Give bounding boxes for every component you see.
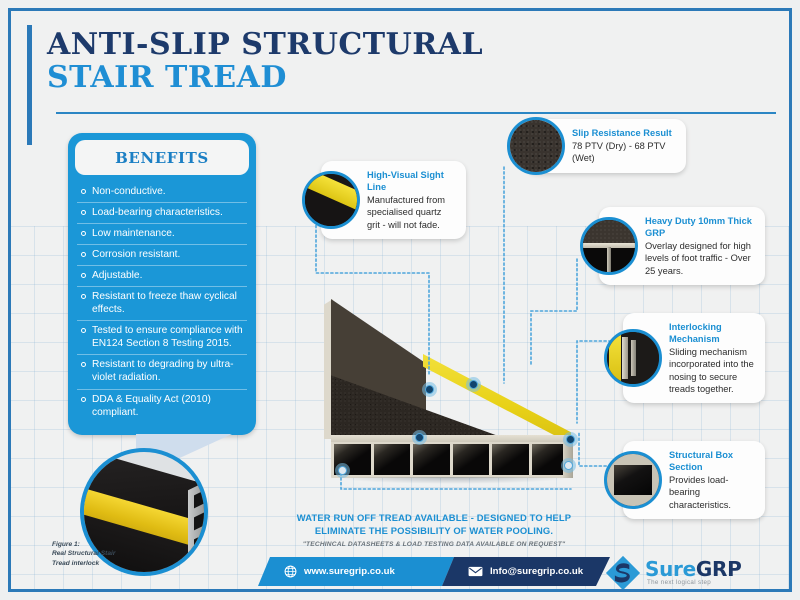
callout-interlocking-mechanism[interactable]: Interlocking Mechanism Sliding mechanism… xyxy=(623,313,765,403)
benefit-text: Non-conductive. xyxy=(92,185,166,198)
page-title: ANTI-SLIP STRUCTURAL STAIR TREAD xyxy=(47,29,607,95)
connector-node xyxy=(561,458,576,473)
benefit-text: DDA & Equality Act (2010) compliant. xyxy=(92,393,245,419)
connector-node xyxy=(422,382,437,397)
callout-body: 78 PTV (Dry) - 68 PTV (Wet) xyxy=(572,140,676,165)
callout-slip-resistance-result[interactable]: Slip Resistance Result 78 PTV (Dry) - 68… xyxy=(526,119,686,173)
list-item: Adjustable. xyxy=(77,266,247,287)
interlock-profile-icon xyxy=(604,329,662,387)
callout-title: Interlocking Mechanism xyxy=(669,321,755,345)
website-link[interactable]: www.suregrip.co.uk xyxy=(258,557,454,586)
bullet-icon xyxy=(81,273,86,278)
box-section-icon xyxy=(604,451,662,509)
benefit-text: Resistant to degrading by ultra-violet r… xyxy=(92,358,245,384)
footer-note-line-2: ELIMINATE THE POSSIBILITY OF WATER POOLI… xyxy=(269,524,599,537)
benefit-text: Low maintenance. xyxy=(92,227,175,240)
benefits-heading: BENEFITS xyxy=(75,140,249,175)
photo-tread-side xyxy=(188,474,208,576)
callout-structural-box-section[interactable]: Structural Box Section Provides load-bea… xyxy=(623,441,765,519)
box-cell xyxy=(453,444,490,475)
figure-caption: Figure 1: Real Structural Stair Tread in… xyxy=(52,540,148,568)
list-item: Tested to ensure compliance with EN124 S… xyxy=(77,321,247,355)
callout-heavy-duty-grp[interactable]: Heavy Duty 10mm Thick GRP Overlay design… xyxy=(599,207,765,285)
benefits-panel: BENEFITS Non-conductive. Load-bearing ch… xyxy=(68,133,256,435)
list-item: Resistant to freeze thaw cyclical effect… xyxy=(77,287,247,321)
list-item: DDA & Equality Act (2010) compliant. xyxy=(77,390,247,423)
quartz-grit-surface-icon xyxy=(507,117,565,175)
footer-note-line-1: WATER RUN OFF TREAD AVAILABLE - DESIGNED… xyxy=(269,511,599,524)
email-text: Info@suregrip.co.uk xyxy=(490,566,583,577)
contact-bar: www.suregrip.co.uk Info@suregrip.co.uk xyxy=(258,557,603,586)
logo-wordmark: SureGRP xyxy=(645,557,741,581)
callout-body: Overlay designed for high levels of foot… xyxy=(645,240,755,277)
benefit-text: Adjustable. xyxy=(92,269,142,282)
yellow-black-nosing-icon xyxy=(302,171,360,229)
callout-high-visual-sight-line[interactable]: High-Visual Sight Line Manufactured from… xyxy=(321,161,466,239)
list-item: Corrosion resistant. xyxy=(77,245,247,266)
bullet-icon xyxy=(81,362,86,367)
globe-icon xyxy=(284,565,297,578)
grp-cross-section-icon xyxy=(580,217,638,275)
box-cell xyxy=(413,444,450,475)
list-item: Low maintenance. xyxy=(77,224,247,245)
box-cell xyxy=(492,444,529,475)
callout-body: Sliding mechanism incorporated into the … xyxy=(669,346,755,395)
callout-title: Structural Box Section xyxy=(669,449,755,473)
tread-shadow xyxy=(333,477,573,484)
callout-title: High-Visual Sight Line xyxy=(367,169,456,193)
figure-photo: Figure 1: Real Structural Stair Tread in… xyxy=(66,436,226,586)
bullet-icon xyxy=(81,294,86,299)
tread-box-sections xyxy=(331,442,571,478)
title-line-2: STAIR TREAD xyxy=(47,61,607,95)
header-accent-bar xyxy=(27,25,32,145)
suregrp-logo-mark xyxy=(605,555,641,591)
logo-name-part2: GRP xyxy=(696,557,742,581)
connector-node xyxy=(412,430,427,445)
envelope-icon xyxy=(468,566,483,577)
callout-title: Heavy Duty 10mm Thick GRP xyxy=(645,215,755,239)
benefit-text: Load-bearing characteristics. xyxy=(92,206,223,219)
footer-note: WATER RUN OFF TREAD AVAILABLE - DESIGNED… xyxy=(269,511,599,548)
callout-title: Slip Resistance Result xyxy=(572,127,676,139)
suregrp-logo[interactable]: SureGRP The next logical step xyxy=(605,553,765,592)
footer-disclaimer: "TECHINCAL DATASHEETS & LOAD TESTING DAT… xyxy=(269,541,599,548)
email-link[interactable]: Info@suregrip.co.uk xyxy=(442,557,610,586)
bullet-icon xyxy=(81,231,86,236)
connector-node xyxy=(466,377,481,392)
benefit-text: Tested to ensure compliance with EN124 S… xyxy=(92,324,245,350)
box-cell xyxy=(374,444,411,475)
logo-name-part1: Sure xyxy=(645,557,696,581)
benefit-text: Resistant to freeze thaw cyclical effect… xyxy=(92,290,245,316)
bullet-icon xyxy=(81,328,86,333)
list-item: Non-conductive. xyxy=(77,182,247,203)
bullet-icon xyxy=(81,210,86,215)
benefit-text: Corrosion resistant. xyxy=(92,248,180,261)
website-text: www.suregrip.co.uk xyxy=(304,566,395,577)
title-divider xyxy=(56,112,776,114)
bullet-icon xyxy=(81,397,86,402)
benefits-list: Non-conductive. Load-bearing characteris… xyxy=(75,182,249,423)
title-line-1: ANTI-SLIP STRUCTURAL xyxy=(47,29,607,61)
logo-tagline: The next logical step xyxy=(647,579,711,586)
infographic-poster: ANTI-SLIP STRUCTURAL STAIR TREAD BENEFIT… xyxy=(8,8,792,592)
bullet-icon xyxy=(81,189,86,194)
isometric-tread-diagram xyxy=(313,299,573,479)
callout-body: Manufactured from specialised quartz gri… xyxy=(367,194,456,231)
connector-node xyxy=(335,463,350,478)
bullet-icon xyxy=(81,252,86,257)
list-item: Resistant to degrading by ultra-violet r… xyxy=(77,355,247,389)
list-item: Load-bearing characteristics. xyxy=(77,203,247,224)
connector-node xyxy=(563,432,578,447)
callout-body: Provides load-bearing characteristics. xyxy=(669,474,755,511)
